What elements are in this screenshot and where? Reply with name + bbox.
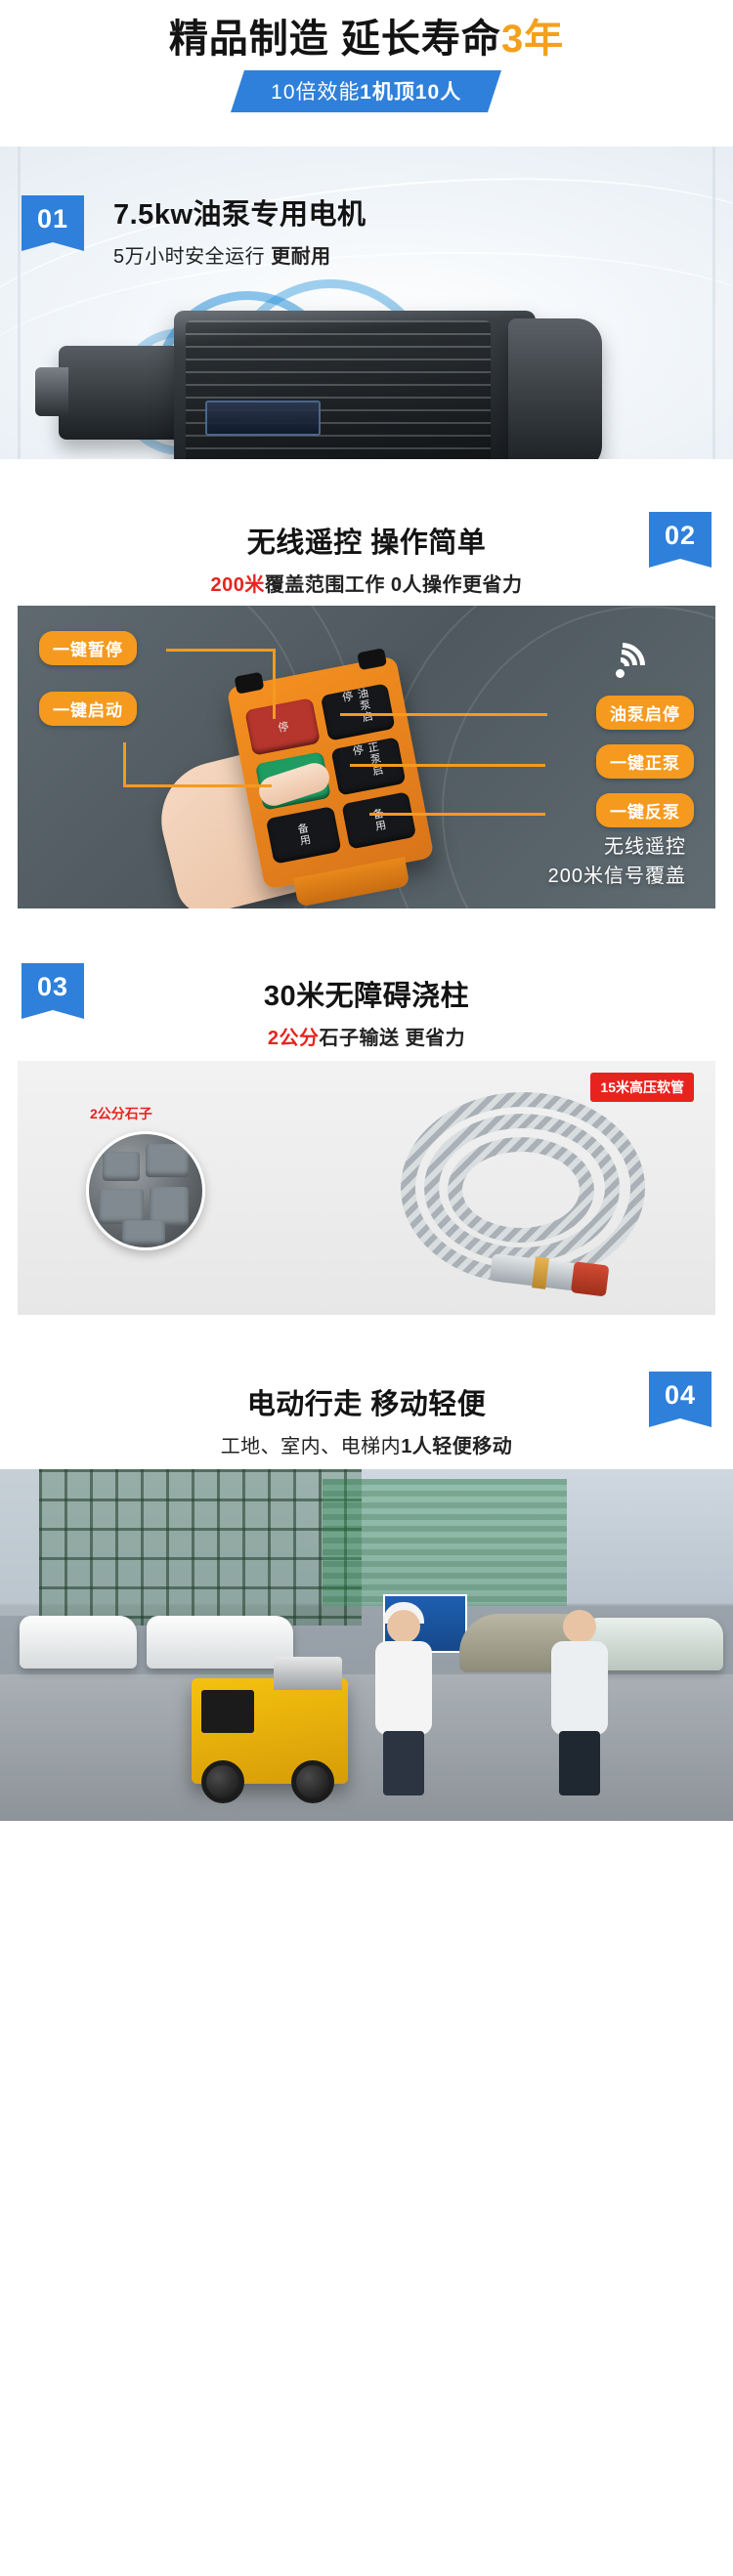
section-02-sub-rest: 覆盖范围工作 0人操作更省力 xyxy=(265,574,523,596)
remote-control-photo: 停 油泵启停 动 正泵启停 备用 备用 一键暂停 一键启动 油泵启停 一键正泵 … xyxy=(18,606,715,908)
section-02-header: 无线遥控 操作简单 200米覆盖范围工作 0人操作更省力 02 xyxy=(0,485,733,606)
remote-keypad: 停 油泵启停 动 正泵启停 备用 备用 xyxy=(244,683,416,864)
header-banner: 10倍效能 1机顶10人 xyxy=(231,70,501,112)
worker-body-1 xyxy=(375,1641,432,1735)
gravel-5 xyxy=(122,1220,165,1246)
worksite-photo xyxy=(0,1469,733,1821)
section-01-text: 7.5kw油泵专用电机 5万小时安全运行 更耐用 xyxy=(113,191,366,269)
hose-coil-ring-3 xyxy=(448,1137,594,1243)
worker-operating xyxy=(371,1610,436,1795)
motor-nameplate xyxy=(205,401,321,436)
remote-caption: 无线遥控 200米信号覆盖 xyxy=(548,832,686,891)
section-02-text: 无线遥控 操作简单 200米覆盖范围工作 0人操作更省力 xyxy=(0,520,733,597)
gravel-1 xyxy=(103,1152,140,1181)
worker-legs-2 xyxy=(559,1731,600,1795)
leader-pause-h xyxy=(166,649,276,652)
remote-antenna-left xyxy=(234,672,264,695)
section-badge-04: 04 xyxy=(649,1372,711,1418)
callout-pause: 一键暂停 xyxy=(39,631,137,665)
remote-antenna-right xyxy=(357,648,387,670)
section-04-sub-normal: 工地、室内、电梯内 xyxy=(221,1436,402,1457)
header-banner-prefix: 10倍效能 xyxy=(271,76,360,106)
worker-head-1 xyxy=(387,1610,420,1643)
parked-van-center xyxy=(147,1616,293,1668)
concrete-pump-machine xyxy=(192,1678,348,1784)
callout-reverse: 一键反泵 xyxy=(596,793,694,827)
callout-pump-toggle: 油泵启停 xyxy=(596,696,694,730)
section-01-title: 7.5kw油泵专用电机 xyxy=(113,191,366,232)
section-badge-02: 02 xyxy=(649,512,711,559)
motor-end-cap xyxy=(508,318,602,459)
page-title: 精品制造 延长寿命3年 xyxy=(0,0,733,61)
leader-start-v xyxy=(123,742,126,787)
remote-key-spare-1: 备用 xyxy=(266,806,341,865)
section-04-subtitle: 工地、室内、电梯内1人轻便移动 xyxy=(0,1430,733,1458)
remote-base xyxy=(293,857,410,908)
scaffolding xyxy=(39,1469,362,1626)
divider-2 xyxy=(0,908,733,934)
worker-body-2 xyxy=(551,1641,608,1735)
hose-photo: 15米高压软管 2公分石子 xyxy=(18,1061,715,1315)
worker-legs-1 xyxy=(383,1731,424,1795)
page-title-main: 精品制造 延长寿命 xyxy=(169,18,501,61)
safety-net xyxy=(323,1479,567,1606)
leader-pause-v xyxy=(273,649,276,719)
motor-cooling-fins xyxy=(186,320,491,459)
section-04-header: 电动行走 移动轻便 工地、室内、电梯内1人轻便移动 04 xyxy=(0,1340,733,1469)
motor-illustration xyxy=(0,264,733,459)
wifi-signal-icon xyxy=(606,639,661,684)
page-header: 精品制造 延长寿命3年 10倍效能 1机顶10人 xyxy=(0,0,733,147)
remote-caption-line-1: 无线遥控 xyxy=(548,832,686,862)
callout-start: 一键启动 xyxy=(39,692,137,726)
section-04-sub-bold: 1人轻便移动 xyxy=(401,1436,512,1457)
hose-coil xyxy=(383,1086,676,1291)
section-04-text: 电动行走 移动轻便 工地、室内、电梯内1人轻便移动 xyxy=(0,1381,733,1458)
section-04-title: 电动行走 移动轻便 xyxy=(0,1381,733,1422)
section-02-subtitle: 200米覆盖范围工作 0人操作更省力 xyxy=(0,569,733,597)
leader-forward-h xyxy=(350,764,545,767)
leader-start-h xyxy=(123,784,272,787)
worker-standing xyxy=(547,1610,612,1795)
leader-pump-h xyxy=(340,713,547,716)
section-badge-03: 03 xyxy=(22,963,84,1010)
remote-key-spare-2: 备用 xyxy=(341,791,416,850)
parked-van-left xyxy=(20,1616,137,1668)
machine-control-panel xyxy=(201,1690,254,1733)
leader-reverse-h xyxy=(369,813,545,816)
section-02-sub-red: 200米 xyxy=(210,574,264,596)
section-02-title: 无线遥控 操作简单 xyxy=(0,520,733,561)
section-03-sub-rest: 石子输送 更省力 xyxy=(320,1028,466,1049)
header-banner-wrap: 10倍效能 1机顶10人 xyxy=(0,70,733,112)
gravel-2 xyxy=(146,1144,189,1177)
remote-key-stop: 停 xyxy=(244,697,320,756)
section-03-title: 30米无障碍浇柱 xyxy=(0,973,733,1014)
motor-gearbox xyxy=(59,346,184,440)
section-03-subtitle: 2公分石子输送 更省力 xyxy=(0,1022,733,1050)
section-03-sub-red: 2公分 xyxy=(268,1028,320,1049)
worker-head-2 xyxy=(563,1610,596,1643)
callout-forward: 一键正泵 xyxy=(596,744,694,779)
section-03-header: 03 30米无障碍浇柱 2公分石子输送 更省力 xyxy=(0,934,733,1061)
remote-caption-line-2: 200米信号覆盖 xyxy=(548,862,686,891)
divider-3 xyxy=(0,1315,733,1340)
page-title-accent: 3年 xyxy=(501,18,564,61)
gravel-3 xyxy=(99,1189,144,1224)
ground-surface xyxy=(0,1674,733,1821)
header-banner-suffix: 1机顶10人 xyxy=(361,76,462,106)
machine-hopper xyxy=(274,1657,342,1690)
motor-body xyxy=(174,311,536,459)
machine-wheel-right xyxy=(291,1760,334,1803)
hose-brass-band xyxy=(532,1256,549,1288)
machine-wheel-left xyxy=(201,1760,244,1803)
hose-red-fitting xyxy=(571,1261,610,1296)
section-badge-01: 01 xyxy=(22,195,84,242)
gravel-sample-photo xyxy=(86,1131,205,1250)
section-03-text: 30米无障碍浇柱 2公分石子输送 更省力 xyxy=(0,973,733,1050)
wifi-dot xyxy=(616,669,625,678)
divider-1 xyxy=(0,459,733,485)
tag-stone-size: 2公分石子 xyxy=(90,1104,152,1123)
section-01: 01 7.5kw油泵专用电机 5万小时安全运行 更耐用 xyxy=(0,147,733,459)
